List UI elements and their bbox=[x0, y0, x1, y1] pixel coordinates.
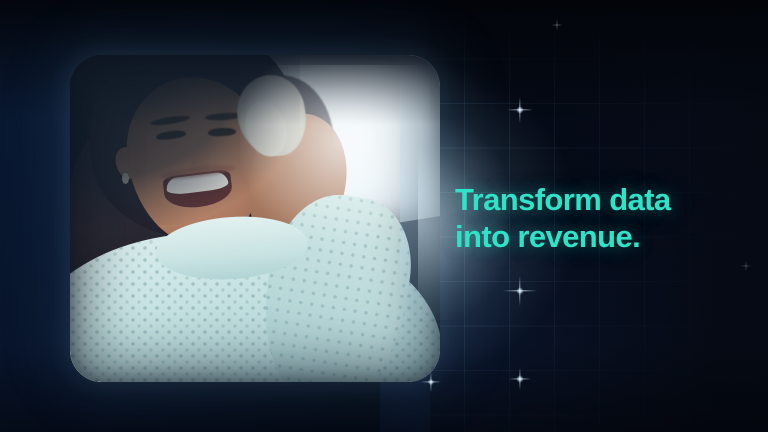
photo-vignette bbox=[70, 55, 440, 382]
video-frame-stage: Transform data into revenue. bbox=[0, 0, 768, 432]
headline-line-1: Transform data bbox=[455, 181, 755, 218]
headline: Transform data into revenue. bbox=[455, 181, 755, 255]
hero-photo bbox=[70, 55, 440, 382]
headline-line-2: into revenue. bbox=[455, 218, 755, 255]
